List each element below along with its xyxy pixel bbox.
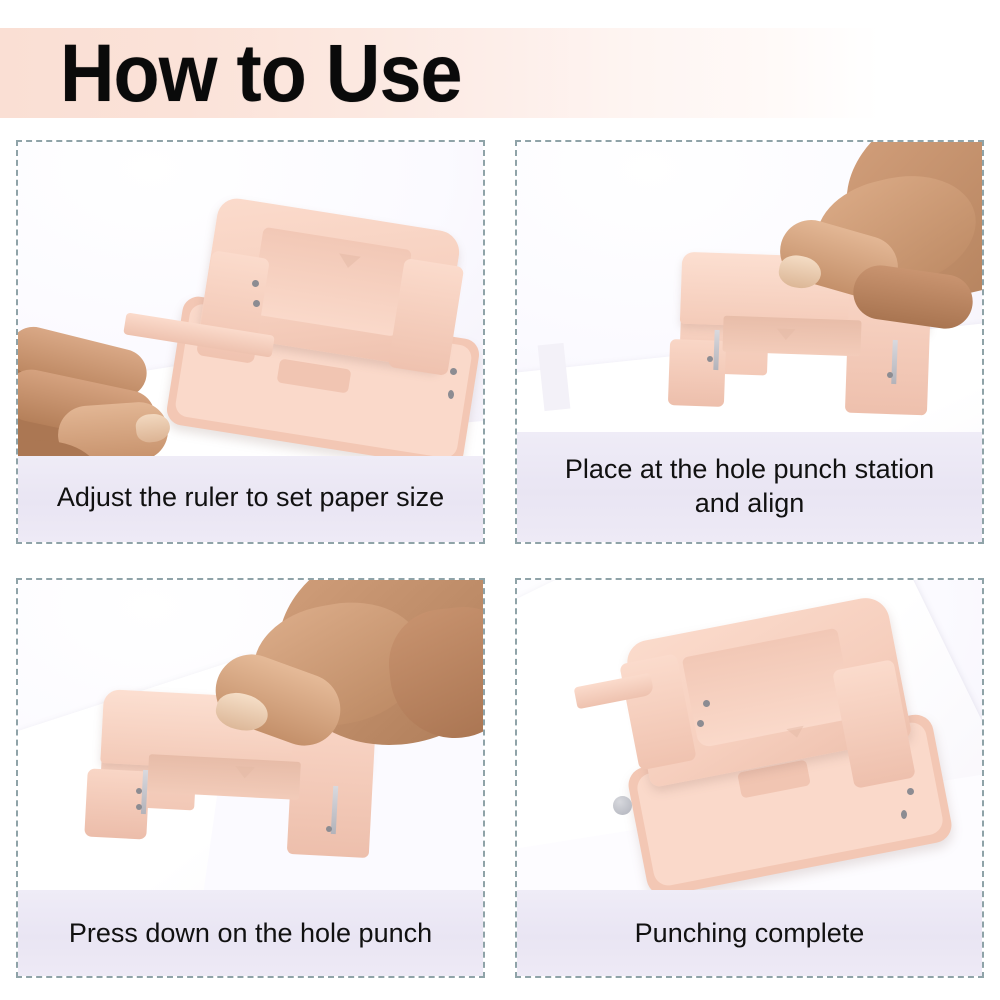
punch-screw [252, 280, 259, 287]
punch-screw [707, 356, 713, 362]
step-caption-3: Press down on the hole punch [18, 917, 483, 950]
punch-screw [887, 372, 893, 378]
punch-screw [901, 810, 907, 819]
punch-screw [697, 720, 704, 727]
alignment-triangle-icon [235, 766, 255, 779]
punch-right-column [287, 728, 375, 858]
step-photo-1: Adjust the ruler to set paper size [18, 142, 483, 542]
alignment-triangle-icon [776, 329, 795, 341]
step-panel-3: Press down on the hole punch [16, 578, 485, 978]
page-title: How to Use [60, 30, 462, 118]
punch-paper-slot [147, 754, 301, 800]
step-panel-2: Place at the hole punch station and alig… [515, 140, 984, 544]
punch-screw [326, 826, 332, 832]
step-photo-2: Place at the hole punch station and alig… [517, 142, 982, 542]
step-photo-3: Press down on the hole punch [18, 580, 483, 976]
step-panel-1: Adjust the ruler to set paper size [16, 140, 485, 544]
step-photo-4: Punching complete [517, 580, 982, 976]
step-caption-2-line-1: Place at the hole punch station [517, 453, 982, 486]
punch-screw [703, 700, 710, 707]
step-panel-4: Punching complete [515, 578, 984, 978]
punch-screw [253, 300, 260, 307]
punch-screw [136, 804, 142, 810]
step-caption-1: Adjust the ruler to set paper size [18, 481, 483, 514]
step-caption-4: Punching complete [517, 917, 982, 950]
punch-screw [450, 368, 457, 375]
punched-hole [613, 796, 632, 815]
steps-grid: Adjust the ruler to set paper size [16, 140, 984, 980]
punch-screw [136, 788, 142, 794]
how-to-use-infographic: How to Use [0, 0, 1000, 1000]
punch-screw [907, 788, 914, 795]
step-caption-2-line-2: and align [517, 487, 982, 520]
punch-screw [448, 390, 454, 399]
